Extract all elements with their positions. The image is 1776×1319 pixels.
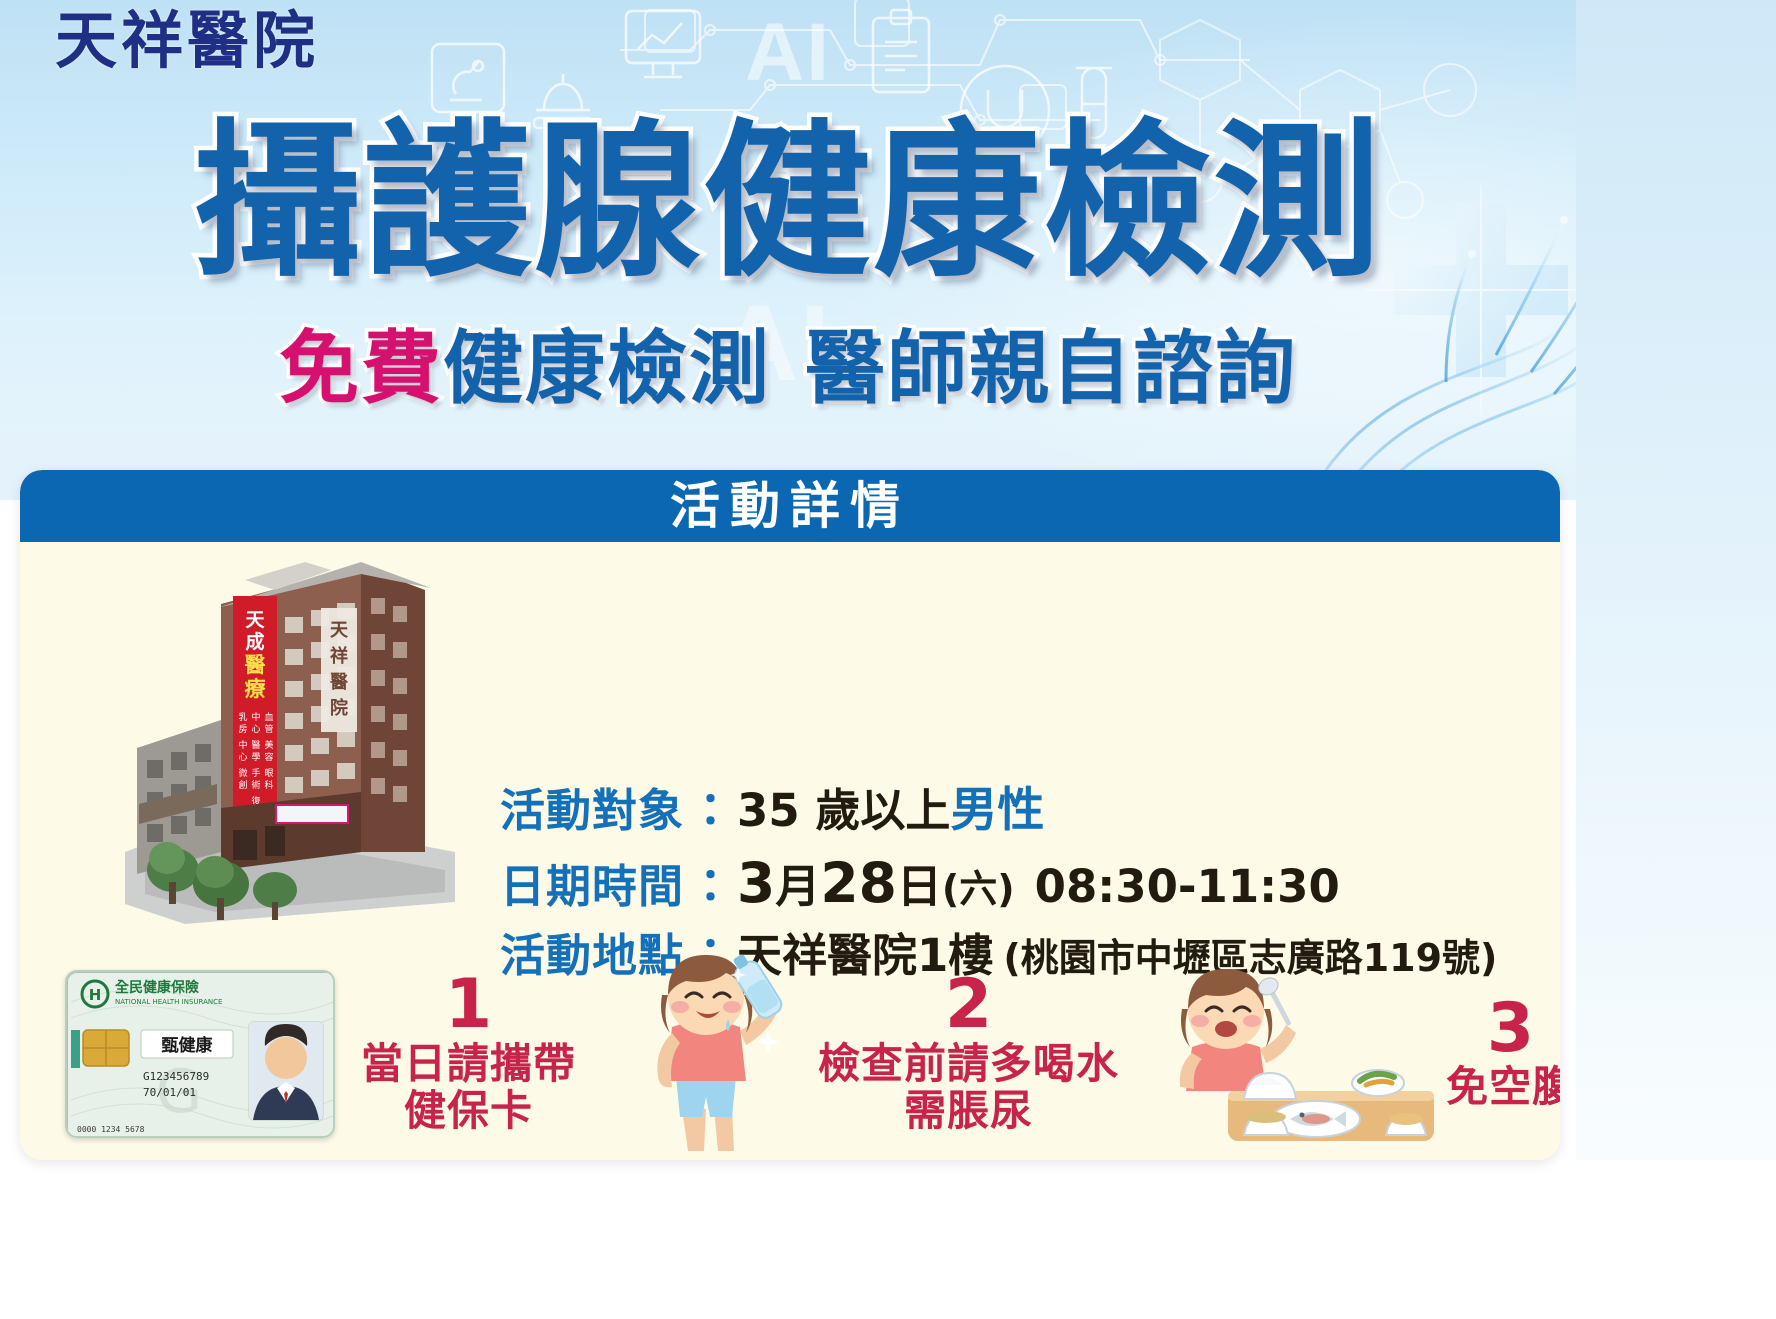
clipboard-icon [865,8,937,100]
datetime-label: 日期時間 [500,860,684,913]
audience-value: 35 歲以上 [737,784,950,837]
nhi-card-art: H 全民健康保險 NATIONAL HEALTH INSURANCE [67,972,335,1138]
svg-text:全民健康保險: 全民健康保險 [115,979,199,996]
page-title: 攝護腺健康檢測 [0,112,1576,293]
card-header-title: 活動詳情 [670,481,910,531]
datetime-day: 28 [820,851,897,915]
card-body: 天 成 醫 療 乳房 中心 血管 中心 醫學 美容 微創 手術 眼科 復健 天祥… [20,542,1560,1160]
svg-text:心: 心 [251,724,260,735]
svg-text:甄健康: 甄健康 [162,1035,213,1056]
subtitle-rest-2: 醫師親自諮詢 [805,322,1297,415]
monitor-chart-icon [620,5,706,83]
notice-item-3: 3 免空腹 [1140,947,1560,1160]
notice-1-number: 1 [361,973,576,1038]
svg-text:70/01/01: 70/01/01 [143,1086,196,1099]
datetime-month-unit: 月 [775,860,820,913]
datetime-time: 08:30-11:30 [1015,860,1340,913]
audience-label: 活動對象 [500,784,684,837]
notice-3-line-1: 免空腹 [1446,1063,1560,1110]
svg-text:療: 療 [245,677,267,701]
notice-item-2: 2 檢查前請多喝水 需脹尿 [610,947,1150,1160]
svg-text:房: 房 [238,723,247,735]
notice-2-line-1: 檢查前請多喝水 [818,1040,1119,1087]
notice-item-1: H 全民健康保險 NATIONAL HEALTH INSURANCE [65,947,625,1160]
svg-text:成: 成 [245,630,264,653]
hero-banner: AI AI [0,0,1776,500]
svg-text:眼: 眼 [264,768,273,779]
page-subtitle: 免費健康檢測醫師親自諮詢 [0,325,1576,413]
notice-3-number: 3 [1446,997,1560,1062]
svg-text:術: 術 [251,780,260,791]
svg-text:創: 創 [238,779,247,791]
notice-2-line-2: 需脹尿 [818,1087,1119,1134]
subtitle-free-label: 免費 [279,322,443,415]
info-row-audience: 活動對象：35 歲以上男性 [500,787,1540,834]
svg-text:管: 管 [264,723,273,735]
hospital-building-image: 天 成 醫 療 乳房 中心 血管 中心 醫學 美容 微創 手術 眼科 復健 天祥… [125,552,485,932]
svg-text:醫: 醫 [245,653,266,677]
datetime-month: 3 [737,851,775,915]
svg-text:天: 天 [330,620,349,641]
svg-text:中: 中 [238,739,247,751]
event-details-card: 活動詳情 [20,470,1560,1160]
svg-text:醫: 醫 [330,671,348,693]
subtitle-rest-1: 健康檢測 [443,322,771,415]
svg-text:心: 心 [238,752,247,763]
svg-text:NATIONAL HEALTH INSURANCE: NATIONAL HEALTH INSURANCE [115,998,222,1006]
datetime-day-unit: 日 [897,860,942,913]
girl-drinking-water-icon [610,949,800,1159]
notice-1-text: 1 當日請攜帶 健保卡 [361,973,576,1134]
card-header: 活動詳情 [20,470,1560,542]
info-row-datetime: 日期時間：3月28日(六)08:30-11:30 [500,856,1540,911]
svg-text:乳: 乳 [238,711,247,723]
svg-text:G123456789: G123456789 [143,1070,209,1083]
svg-text:血: 血 [264,711,273,723]
hospital-name: 天祥醫院 [55,8,319,73]
audience-colon: ： [684,784,737,837]
notice-strip: H 全民健康保險 NATIONAL HEALTH INSURANCE [20,947,1560,1160]
svg-text:科: 科 [264,779,273,791]
right-edge-panel [1576,0,1776,1319]
nhi-card-icon: H 全民健康保險 NATIONAL HEALTH INSURANCE [65,970,335,1138]
notice-2-number: 2 [818,973,1119,1038]
svg-text:微: 微 [238,767,247,779]
audience-value-accent: 男性 [950,783,1044,838]
svg-text:學: 學 [251,751,260,763]
notice-1-line-1: 當日請攜帶 [361,1040,576,1087]
footer-strip [0,1160,1776,1319]
notice-3-text: 3 免空腹 [1446,997,1560,1111]
svg-text:容: 容 [264,751,273,763]
svg-text:中: 中 [251,711,260,723]
svg-text:院: 院 [330,697,348,719]
svg-text:醫: 醫 [251,740,260,751]
girl-eating-meal-icon [1140,949,1440,1159]
notice-2-text: 2 檢查前請多喝水 需脹尿 [818,973,1119,1134]
svg-text:祥: 祥 [330,645,348,667]
svg-text:手: 手 [251,767,260,779]
svg-text:0000 1234 5678: 0000 1234 5678 [77,1125,145,1134]
svg-text:美: 美 [264,739,273,751]
svg-text:天: 天 [245,609,265,631]
datetime-colon: ： [684,860,737,913]
notice-1-line-2: 健保卡 [361,1087,576,1134]
svg-text:H: H [89,986,102,1004]
datetime-weekday: (六) [942,867,1015,911]
